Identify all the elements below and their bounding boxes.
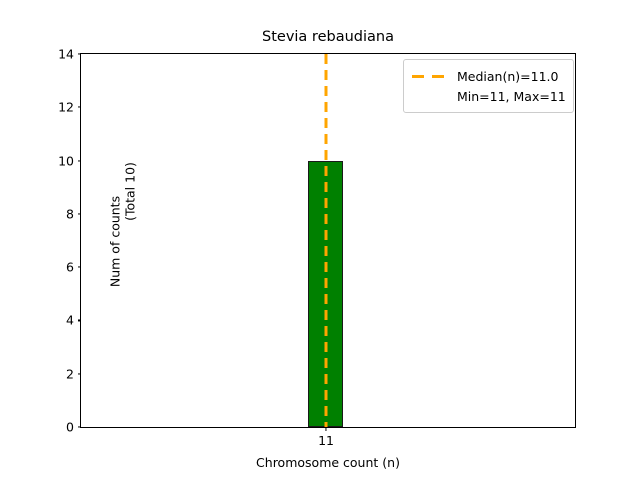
legend-label-median: Median(n)=11.0 [457,69,558,84]
ytick-label-0: 0 [66,420,81,435]
legend-entry-median: Median(n)=11.0 [412,66,565,86]
median-line [325,54,328,427]
chart-title: Stevia rebaudiana [80,29,576,46]
x-axis-label: Chromosome count (n) [80,455,576,470]
ytick-label-2: 2 [66,366,81,381]
ytick-label-6: 6 [66,260,81,275]
legend: Median(n)=11.0 Min=11, Max=11 [403,59,574,113]
legend-entry-minmax: Min=11, Max=11 [412,86,565,106]
dashed-line-icon [412,75,448,78]
y-axis-label: Num of counts [108,142,123,342]
plot-area: 0 2 4 6 8 10 12 14 11 Num of counts (Tot… [80,53,576,428]
y-axis-sublabel: (Total 10) [123,92,138,292]
chart-figure: Stevia rebaudiana 0 2 4 6 8 10 12 14 11 … [0,0,640,480]
ytick-label-8: 8 [66,206,81,221]
ytick-label-12: 12 [58,100,81,115]
ytick-label-14: 14 [58,47,81,62]
legend-label-minmax: Min=11, Max=11 [457,89,566,104]
ytick-label-4: 4 [66,313,81,328]
xtick-label-11: 11 [318,427,334,448]
ytick-label-10: 10 [58,153,81,168]
